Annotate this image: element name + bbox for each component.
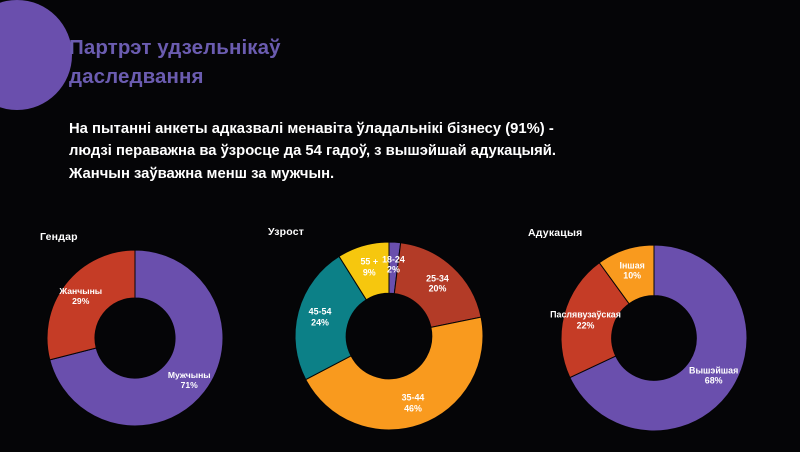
summary-line-1: На пытанні анкеты адказвалі менавіта ўла… [69,118,734,140]
decorative-circle [0,0,72,110]
charts-row: ГендарМужчыны71%Жанчыны29% Узрост18-242%… [0,225,800,452]
page-title: Партрэт удзельнікаў даследвання [69,33,489,91]
chart-title-education: Адукацыя [528,227,582,239]
page-title-line-2: даследвання [69,62,489,91]
pie-slice[interactable] [394,243,481,328]
chart-title-age: Узрост [268,226,304,238]
summary-paragraph: На пытанні анкеты адказвалі менавіта ўла… [69,118,734,185]
donut-education [557,241,751,435]
page-title-line-1: Партрэт удзельнікаў [69,33,489,62]
summary-line-2: людзі пераважна ва ўзросце да 54 гадоў, … [69,140,734,162]
slide-root: Партрэт удзельнікаў даследвання На пытан… [0,0,800,452]
pie-slice[interactable] [47,250,135,360]
chart-title-gender: Гендар [40,231,78,243]
donut-gender [43,246,227,430]
summary-line-3: Жанчын заўважна менш за мужчын. [69,163,734,185]
donut-age [291,238,487,434]
